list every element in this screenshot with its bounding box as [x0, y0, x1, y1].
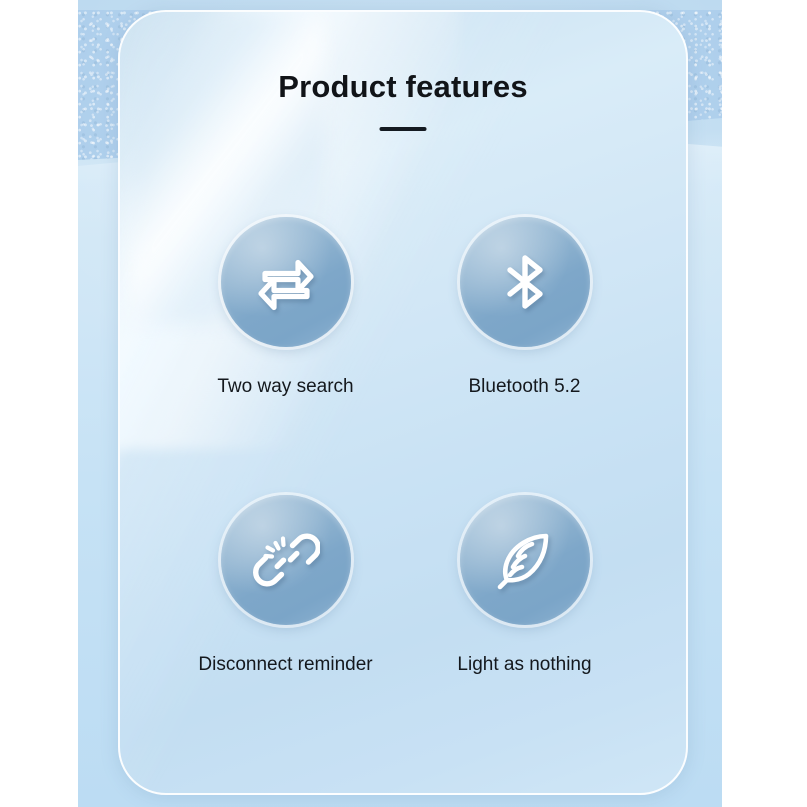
feature-grid: Two way search Bluetooth 5.2	[166, 217, 644, 773]
feature-icon-circle	[221, 495, 351, 625]
page-title: Product features	[120, 69, 686, 105]
screenshot-root: Product features Two wa	[0, 0, 807, 807]
feature-item-disconnect-reminder[interactable]: Disconnect reminder	[166, 495, 405, 676]
feature-row-1: Two way search Bluetooth 5.2	[166, 217, 644, 398]
feature-row-2: Disconnect reminder	[166, 495, 644, 676]
feature-icon-circle	[460, 495, 590, 625]
broken-link-icon	[252, 526, 320, 594]
feature-label: Disconnect reminder	[198, 654, 372, 676]
feature-label: Bluetooth 5.2	[469, 376, 581, 398]
feature-item-light-as-nothing[interactable]: Light as nothing	[405, 495, 644, 676]
two-way-arrows-icon	[251, 247, 321, 317]
feather-icon	[491, 526, 559, 594]
feature-icon-circle	[460, 217, 590, 347]
bluetooth-icon	[492, 249, 558, 315]
feature-item-bluetooth[interactable]: Bluetooth 5.2	[405, 217, 644, 398]
feature-icon-circle	[221, 217, 351, 347]
feature-item-two-way-search[interactable]: Two way search	[166, 217, 405, 398]
feature-label: Light as nothing	[457, 654, 591, 676]
feature-label: Two way search	[217, 376, 353, 398]
product-features-card: Product features Two wa	[118, 10, 688, 795]
title-divider	[380, 127, 427, 131]
